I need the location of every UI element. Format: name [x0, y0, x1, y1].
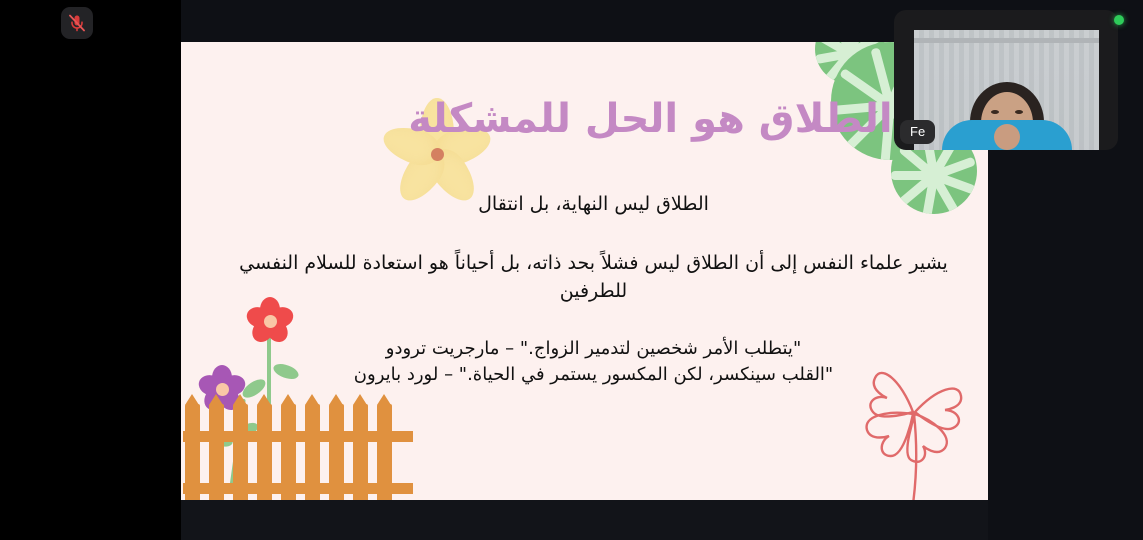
slide-paragraph: يشير علماء النفس إلى أن الطلاق ليس فشلاً… [211, 249, 976, 306]
slide-lead-line: الطلاق ليس النهاية، بل انتقال [211, 190, 976, 219]
outline-flower-icon [847, 354, 982, 500]
red-blossom-icon [247, 298, 293, 344]
shared-slide[interactable]: هل الطلاق هو الحل للمشكلة الطلاق ليس الن… [181, 42, 988, 500]
participant-eye-left [991, 110, 999, 114]
canvas-lower-band [181, 500, 988, 540]
active-speaker-indicator-icon [1114, 15, 1124, 25]
picket-fence-icon [183, 396, 413, 500]
participant-name-label: Fe [900, 120, 935, 144]
mic-muted-badge[interactable] [61, 7, 93, 39]
video-feed [914, 30, 1099, 150]
curtain-rod [914, 38, 1099, 43]
participant-hand [994, 124, 1020, 150]
participant-video-tile[interactable]: Fe [894, 10, 1118, 150]
microphone-muted-icon [67, 13, 87, 33]
participant-eye-right [1015, 110, 1023, 114]
slide-title: هل الطلاق هو الحل للمشكلة [320, 94, 970, 144]
screen-share-stage: هل الطلاق هو الحل للمشكلة الطلاق ليس الن… [0, 0, 1143, 540]
